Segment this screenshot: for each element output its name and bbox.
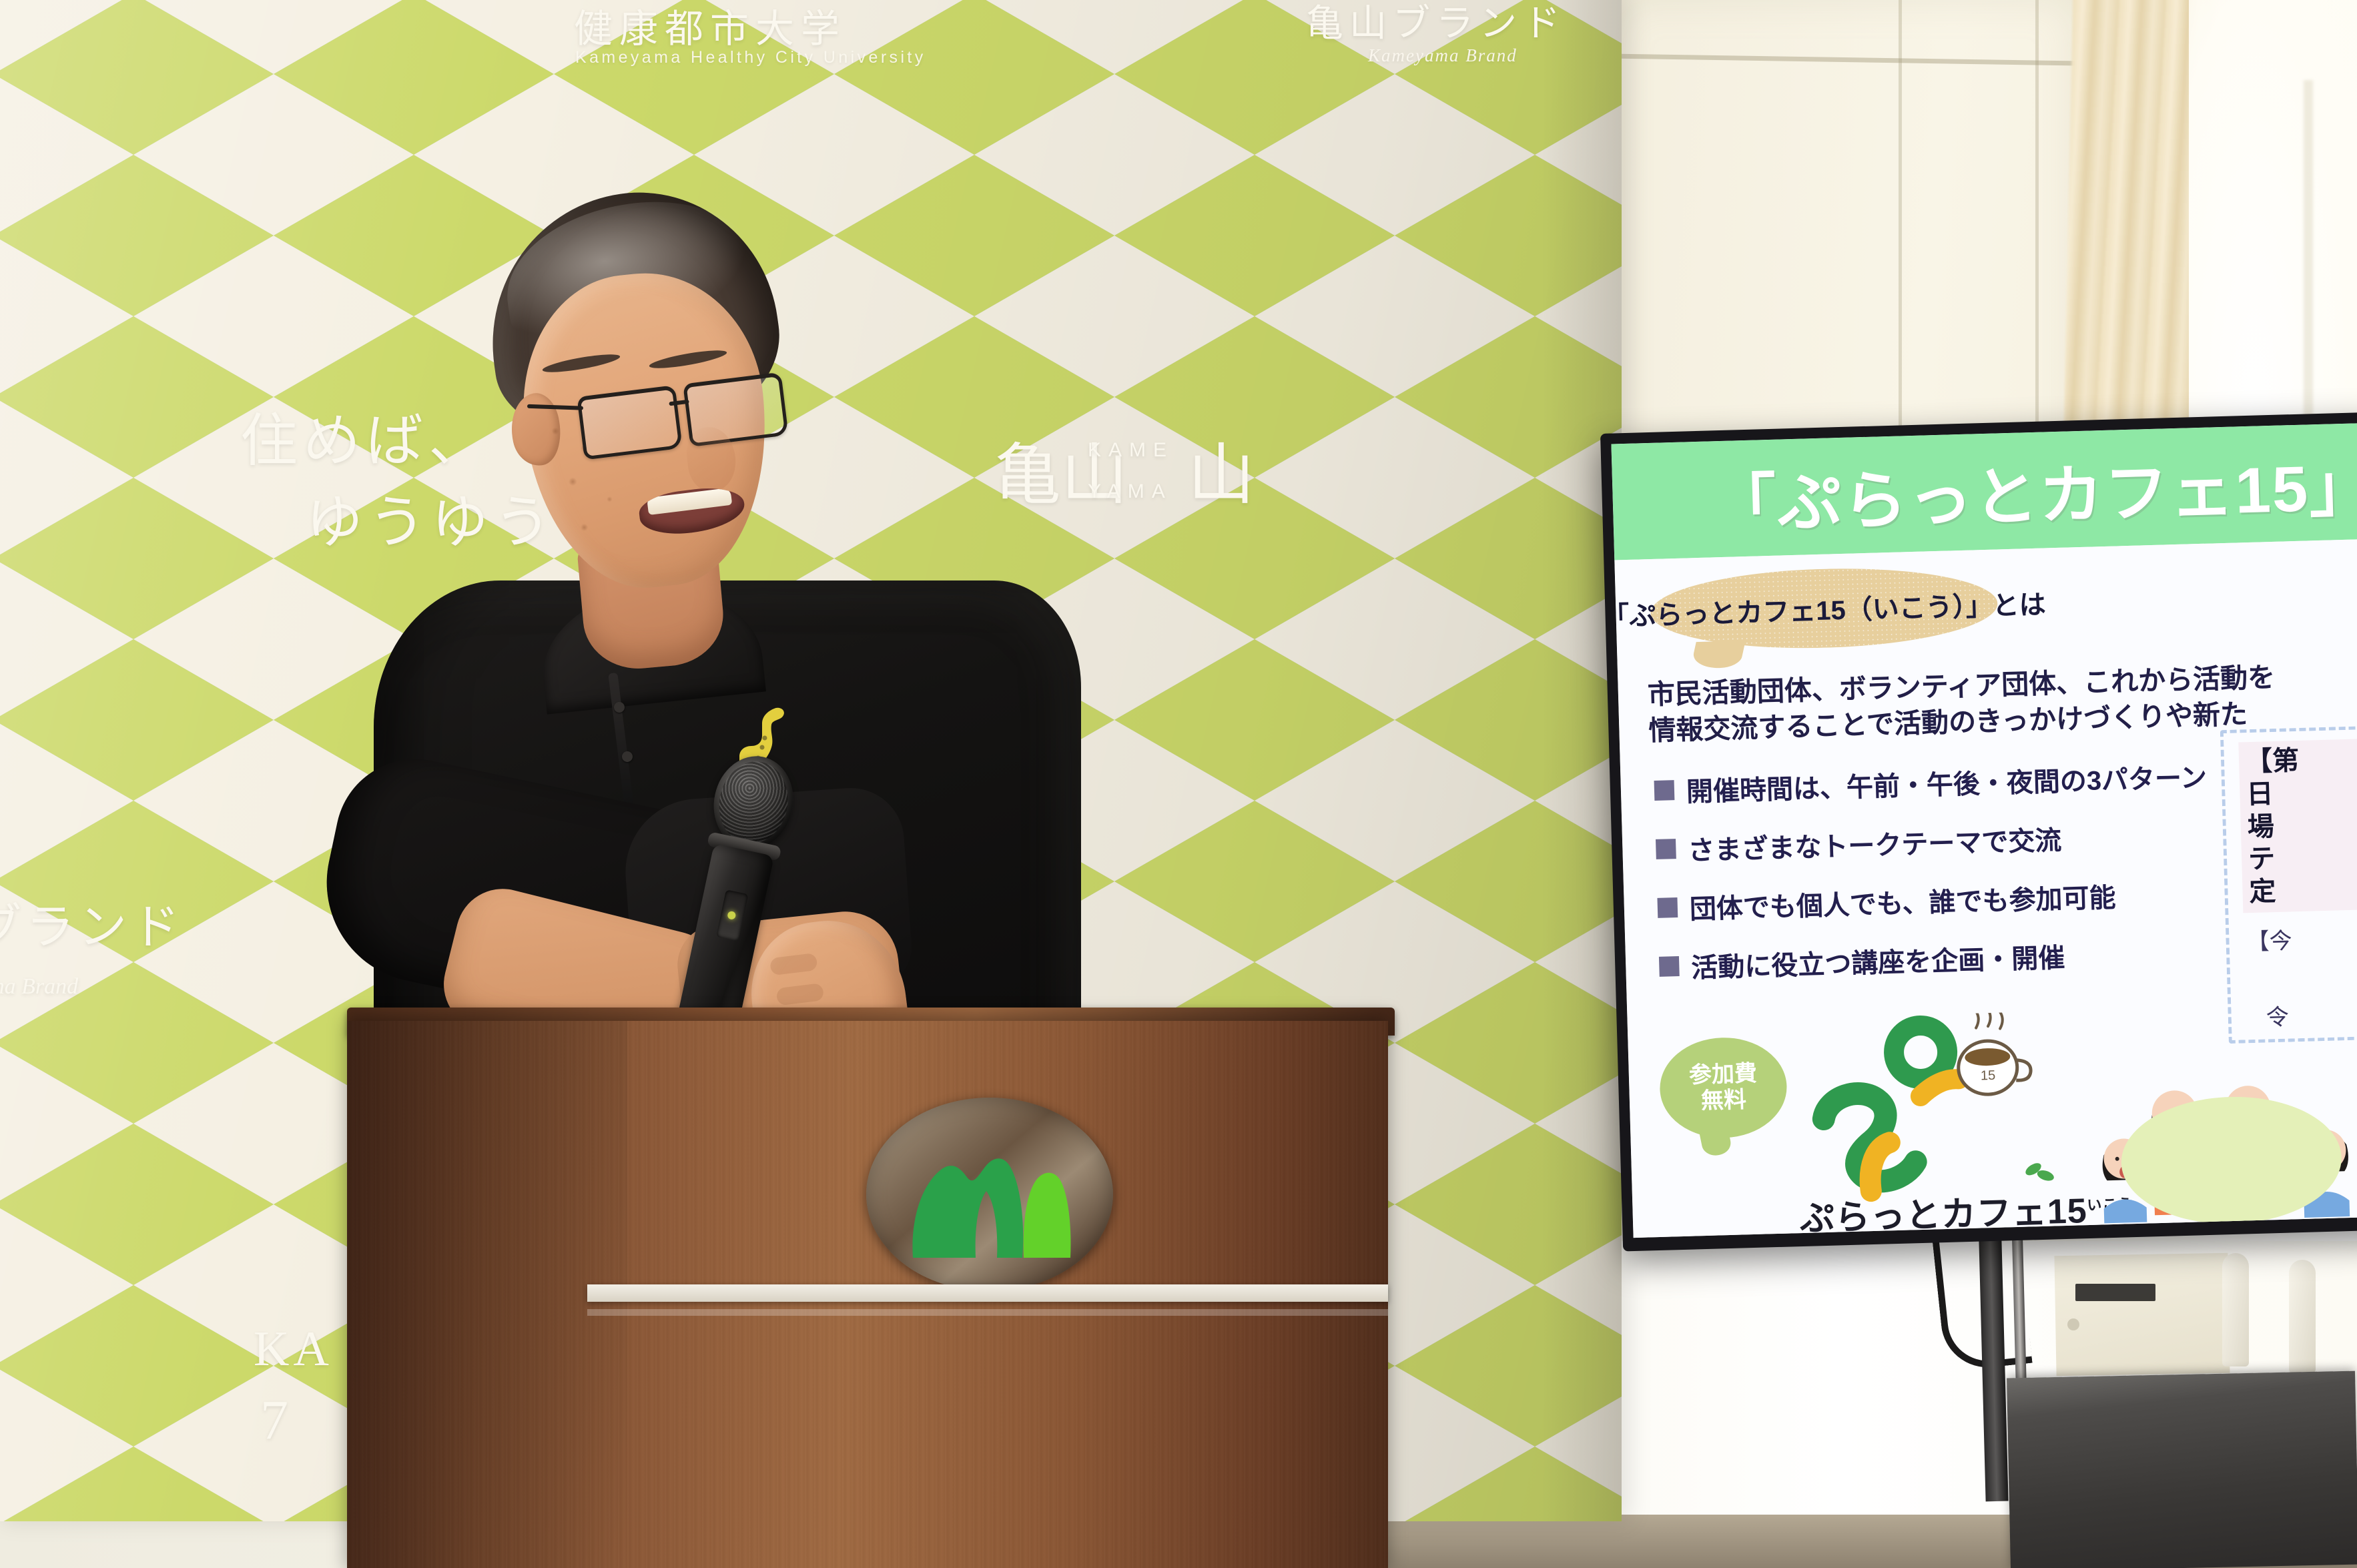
people-illustration (2089, 1029, 2357, 1224)
bullet-text: 活動に役立つ講座を企画・開催 (1691, 936, 2065, 986)
slide-bullet-item: 活動に役立つ講座を企画・開催 (1659, 932, 2213, 986)
svg-text:15: 15 (1981, 1068, 1996, 1084)
podium-emblem (866, 1098, 1113, 1291)
display-stand-shelf (2007, 1371, 2357, 1568)
slide-bullet-list: 開催時間は、午前・午後・夜間の3パターン さまざまなトークテーマで交流 団体でも… (1654, 756, 2213, 1006)
slide-bullet-item: 団体でも個人でも、誰でも参加可能 (1657, 873, 2211, 927)
slide-content: 「ぷらっとカフェ15（いこう）」とは 市民活動団体、ボランティア団体、これから活… (1614, 539, 2357, 1238)
bullet-square-icon (1659, 956, 1680, 977)
podium-accent-band-lower (587, 1309, 1388, 1316)
pura-logo-text: ぷらっとカフェ15いこう (1799, 1181, 2134, 1238)
bullet-text: 開催時間は、午前・午後・夜間の3パターン (1686, 756, 2208, 809)
banner-partial-seven: 7 (260, 1388, 288, 1453)
slide-bullet-item: 開催時間は、午前・午後・夜間の3パターン (1654, 756, 2208, 810)
banner-city-en-yama: YAMA (1088, 480, 1172, 503)
bullet-text: 団体でも個人でも、誰でも参加可能 (1689, 876, 2116, 927)
slide-logo-area: 参加費無料 15 (1627, 995, 2357, 1238)
presentation-photo-scene: 健康都市大学 Kameyama Healthy City University … (0, 0, 2357, 1568)
slide-title-bar: 「ぷらっとカフェ15」 (1611, 423, 2357, 560)
podium-side-shadow (347, 1021, 627, 1568)
equipment-knob[interactable] (2067, 1318, 2079, 1330)
slide-title-text: 「ぷらっとカフェ15」 (1710, 434, 2357, 546)
event-panel-title: 【第 (2245, 739, 2357, 779)
glasses-temple (527, 404, 583, 410)
bullet-square-icon (1654, 780, 1675, 801)
bullet-square-icon (1657, 897, 1678, 918)
slide-heading-text: 「ぷらっとカフェ15（いこう）」とは (1611, 582, 2046, 634)
banner-university-en: Kameyama Healthy City University (575, 48, 926, 67)
equipment-handle[interactable] (2222, 1253, 2249, 1366)
slide-event-panel: 【第 日 場 テ 定 【今 令 (2220, 722, 2357, 1044)
event-panel-subheading: 【今 (2246, 922, 2292, 956)
equipment-handle[interactable] (2289, 1260, 2316, 1373)
banner-brand-jp-2: ブランド (0, 887, 184, 957)
slide: 「ぷらっとカフェ15」 「ぷらっとカフェ15（いこう）」とは 市民活動団体、ボラ… (1611, 423, 2357, 1238)
bullet-square-icon (1656, 839, 1676, 859)
banner-university-jp: 健康都市大学 (574, 0, 846, 53)
presentation-display[interactable]: 「ぷらっとカフェ15」 「ぷらっとカフェ15（いこう）」とは 市民活動団体、ボラ… (1600, 412, 2357, 1251)
slide-heading-bubble: 「ぷらっとカフェ15（いこう）」とは (1650, 564, 1999, 652)
banner-city-yama-kanji: 山 (1188, 420, 1255, 517)
equipment-label (2075, 1284, 2155, 1301)
podium-accent-band (587, 1284, 1388, 1302)
glasses-lens (577, 385, 682, 460)
banner-brand-en-2: yama Brand (0, 974, 78, 1000)
banner-brand-en: Kameyama Brand (1368, 45, 1518, 66)
event-panel-header: 【第 日 場 テ 定 (2238, 735, 2357, 913)
free-admission-badge: 参加費無料 (1658, 1036, 1788, 1140)
mountain-logo-icon (866, 1098, 1113, 1291)
banner-city-en-kame: KAME (1088, 439, 1174, 462)
slide-bullet-item: さまざまなトークテーマで交流 (1656, 815, 2210, 869)
bullet-text: さまざまなトークテーマで交流 (1688, 819, 2062, 868)
background-equipment (2054, 1253, 2230, 1377)
free-admission-text: 参加費無料 (1688, 1061, 1758, 1115)
banner-brand-jp: 亀山ブランド (1306, 0, 1566, 47)
banner-partial-ka: KA (254, 1321, 333, 1378)
